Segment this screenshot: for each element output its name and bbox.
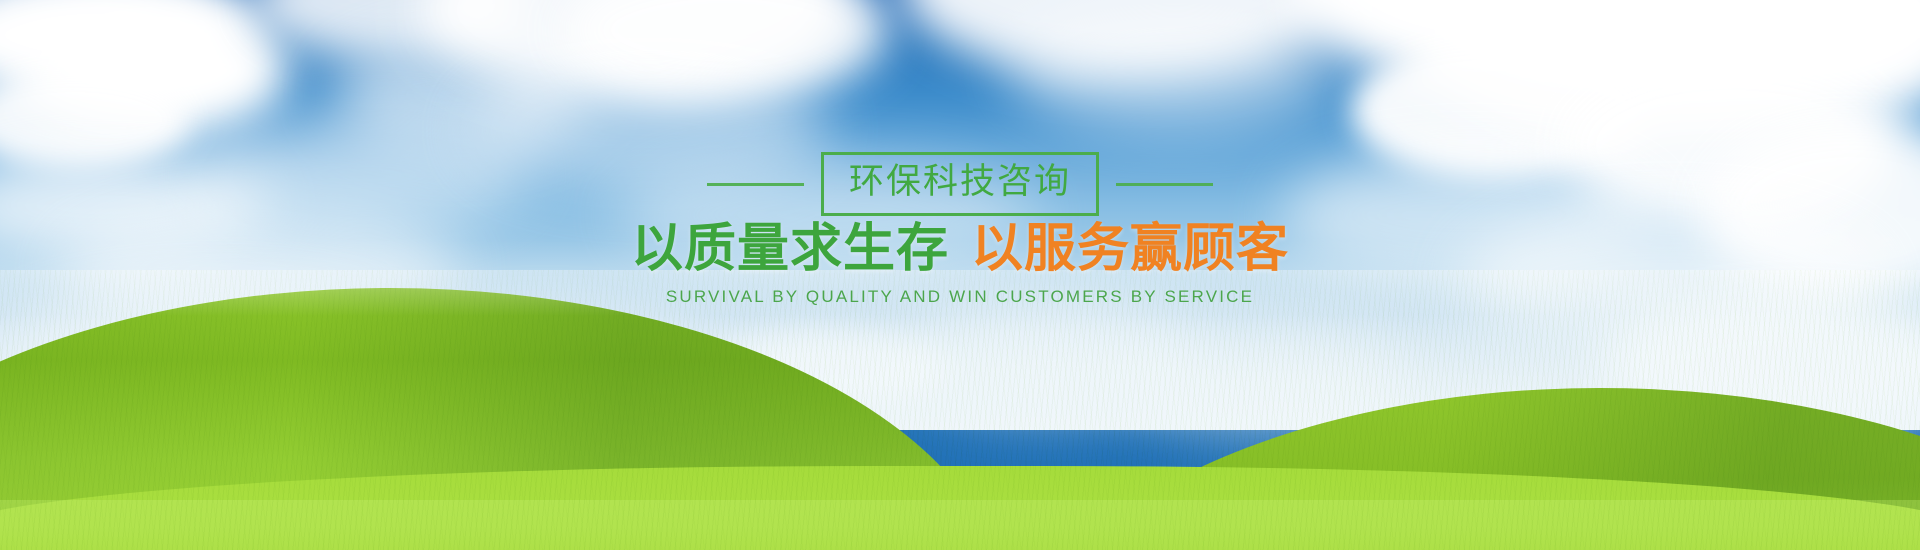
headline: 以质量求生存以服务赢顾客 [0,218,1920,280]
decorative-rule-left [707,183,804,186]
headline-part-orange: 以服务赢顾客 [971,219,1289,279]
eyebrow-box: 环保科技咨询 [821,152,1099,216]
eyebrow-row: 环保科技咨询 [0,152,1920,216]
hero-banner: 环保科技咨询 以质量求生存以服务赢顾客 SURVIVAL BY QUALITY … [0,0,1920,550]
subline-english: SURVIVAL BY QUALITY AND WIN CUSTOMERS BY… [0,286,1920,308]
eyebrow-label: 环保科技咨询 [848,160,1072,204]
headline-part-green: 以质量求生存 [631,219,949,279]
grass-landscape [0,270,1920,550]
decorative-rule-right [1116,183,1213,186]
